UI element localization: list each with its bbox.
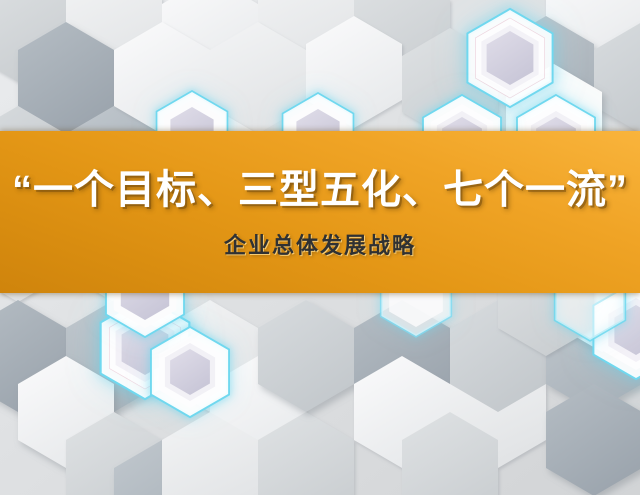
slide-subtitle: 企业总体发展战略: [224, 228, 416, 260]
slide-main-title: “一个目标、三型五化、七个一流”: [12, 168, 628, 212]
presentation-slide: “一个目标、三型五化、七个一流” 企业总体发展战略: [0, 0, 640, 495]
title-banner: “一个目标、三型五化、七个一流” 企业总体发展战略: [0, 131, 640, 293]
